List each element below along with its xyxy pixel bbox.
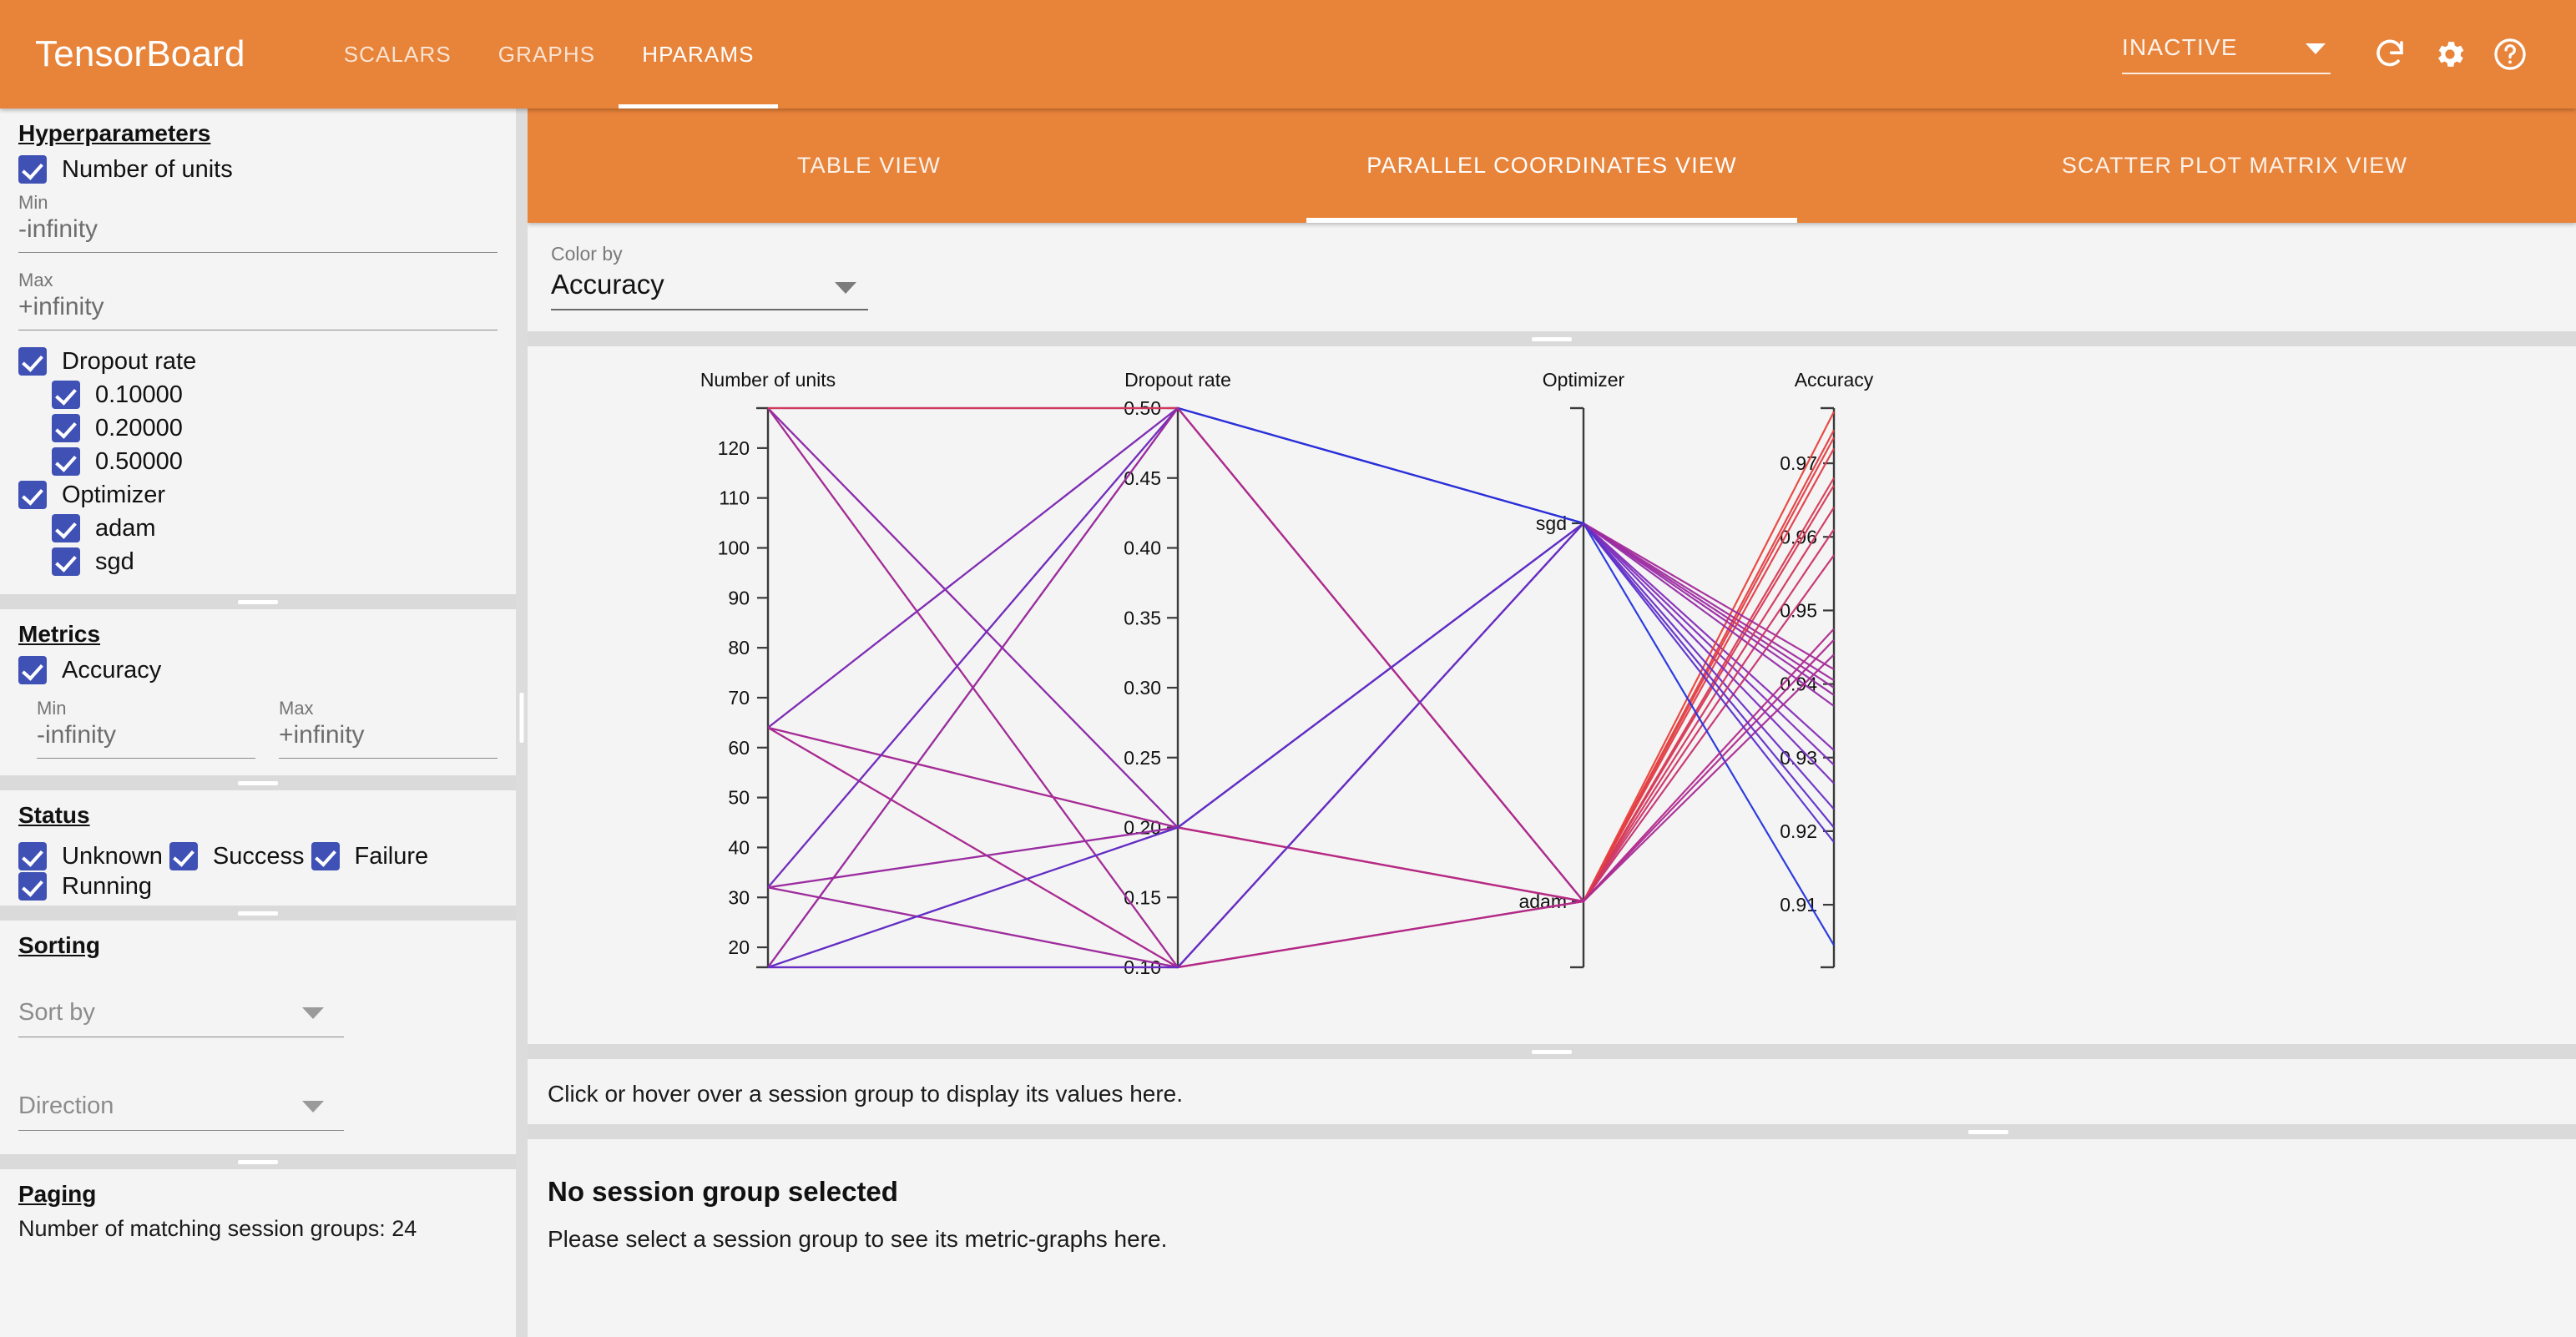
checkbox-status-unknown[interactable] [18, 842, 47, 870]
chevron-down-icon [835, 282, 856, 294]
status-title: Status [18, 802, 498, 829]
checkbox-status-failure[interactable] [311, 842, 340, 870]
run-selector-value: INACTIVE [2122, 34, 2238, 61]
session-group-panel: No session group selected Please select … [528, 1139, 2576, 1253]
checkbox-row-dropout-0-1[interactable]: 0.10000 [18, 381, 498, 409]
svg-text:0.93: 0.93 [1780, 747, 1817, 769]
accuracy-min-field[interactable]: Min -infinity [37, 698, 255, 759]
divider-colorby-chart[interactable] [528, 331, 2576, 346]
view-tab-bar: TABLE VIEW PARALLEL COORDINATES VIEW SCA… [528, 108, 2576, 223]
svg-text:90: 90 [728, 587, 750, 608]
number-of-units-max-field[interactable]: Max +infinity [18, 270, 498, 330]
svg-text:Optimizer: Optimizer [1543, 369, 1625, 391]
checkbox-number-of-units[interactable] [18, 155, 47, 184]
svg-text:0.92: 0.92 [1780, 820, 1817, 842]
svg-text:110: 110 [719, 487, 750, 509]
svg-text:0.40: 0.40 [1124, 537, 1161, 559]
paging-panel: Paging Number of matching session groups… [0, 1181, 516, 1242]
topnav-item-graphs[interactable]: GRAPHS [475, 0, 619, 108]
sort-by-select[interactable]: Sort by [18, 991, 344, 1037]
checkbox-row-status-success[interactable]: Success [169, 842, 305, 870]
checkbox-dropout-0-2[interactable] [52, 414, 80, 442]
run-selector-dropdown[interactable]: INACTIVE [2122, 34, 2331, 74]
svg-text:120: 120 [718, 437, 750, 459]
label-status-running: Running [62, 873, 152, 901]
svg-text:0.25: 0.25 [1124, 747, 1161, 769]
direction-placeholder: Direction [18, 1092, 114, 1119]
label-status-success: Success [213, 843, 305, 870]
number-of-units-min-input[interactable]: -infinity [18, 215, 498, 253]
number-of-units-max-input[interactable]: +infinity [18, 293, 498, 330]
svg-text:Accuracy: Accuracy [1795, 369, 1874, 391]
svg-text:0.15: 0.15 [1124, 886, 1161, 908]
matching-session-groups-count: Number of matching session groups: 24 [18, 1216, 498, 1242]
main-content: TABLE VIEW PARALLEL COORDINATES VIEW SCA… [528, 108, 2576, 1337]
divider-chart-hover[interactable] [528, 1044, 2576, 1059]
checkbox-row-dropout-0-5[interactable]: 0.50000 [18, 447, 498, 476]
color-by-value: Accuracy [551, 269, 664, 300]
sorting-title: Sorting [18, 932, 498, 959]
label-number-of-units: Number of units [62, 156, 233, 184]
hyperparameters-title: Hyperparameters [18, 120, 498, 147]
checkbox-optimizer-sgd[interactable] [52, 547, 80, 576]
svg-text:0.91: 0.91 [1780, 894, 1817, 916]
checkbox-row-dropout-0-2[interactable]: 0.20000 [18, 414, 498, 442]
svg-text:sgd: sgd [1536, 512, 1567, 534]
checkbox-status-success[interactable] [169, 842, 198, 870]
sort-by-placeholder: Sort by [18, 999, 95, 1026]
checkbox-row-status-unknown[interactable]: Unknown [18, 842, 163, 870]
hyperparameters-panel: Hyperparameters Number of units Min -inf… [0, 120, 516, 594]
checkbox-row-dropout-rate[interactable]: Dropout rate [18, 347, 498, 376]
label-dropout-0-2: 0.20000 [95, 415, 183, 442]
svg-text:80: 80 [728, 637, 750, 658]
panel-divider-sorting-paging[interactable] [0, 1154, 516, 1169]
chevron-down-icon [302, 1007, 324, 1019]
help-circle-icon[interactable] [2484, 28, 2536, 80]
checkbox-dropout-rate[interactable] [18, 347, 47, 376]
svg-text:70: 70 [728, 687, 750, 709]
svg-text:0.30: 0.30 [1124, 677, 1161, 699]
sorting-panel: Sorting Sort by Direction [0, 932, 516, 1154]
color-by-control[interactable]: Color by Accuracy [551, 243, 868, 310]
number-of-units-max-label: Max [18, 270, 498, 291]
direction-select[interactable]: Direction [18, 1084, 344, 1131]
app-title: TensorBoard [35, 33, 245, 75]
accuracy-max-label: Max [279, 698, 498, 719]
checkbox-status-running[interactable] [18, 872, 47, 901]
checkbox-dropout-0-5[interactable] [52, 447, 80, 476]
tab-scatter-plot-matrix-view[interactable]: SCATTER PLOT MATRIX VIEW [1893, 108, 2576, 223]
paging-title: Paging [18, 1181, 498, 1208]
label-optimizer-adam: adam [95, 515, 156, 542]
label-optimizer-sgd: sgd [95, 548, 134, 576]
label-dropout-rate: Dropout rate [62, 348, 196, 376]
checkbox-row-optimizer-sgd[interactable]: sgd [18, 547, 498, 576]
parallel-coordinates-chart[interactable]: 20304050607080901001101200.100.150.200.2… [528, 346, 2576, 1044]
metrics-title: Metrics [18, 621, 498, 648]
svg-text:Dropout rate: Dropout rate [1124, 369, 1231, 391]
tab-table-view[interactable]: TABLE VIEW [528, 108, 1210, 223]
checkbox-row-status-failure[interactable]: Failure [311, 842, 429, 870]
label-optimizer: Optimizer [62, 482, 165, 509]
svg-text:Number of units: Number of units [700, 369, 836, 391]
tab-parallel-coordinates-view[interactable]: PARALLEL COORDINATES VIEW [1210, 108, 1893, 223]
label-status-failure: Failure [355, 843, 429, 870]
svg-text:0.35: 0.35 [1124, 607, 1161, 628]
checkbox-row-status-running[interactable]: Running [18, 872, 498, 901]
session-group-title: No session group selected [548, 1176, 2556, 1208]
status-panel: Status Unknown Success Failure Running [0, 802, 516, 906]
topnav-item-scalars[interactable]: SCALARS [321, 0, 475, 108]
svg-text:0.45: 0.45 [1124, 467, 1161, 489]
number-of-units-min-label: Min [18, 192, 498, 214]
chevron-down-icon [2306, 43, 2326, 54]
accuracy-max-field[interactable]: Max +infinity [279, 698, 498, 759]
topnav-item-hparams[interactable]: HPARAMS [619, 0, 777, 108]
label-dropout-0-5: 0.50000 [95, 448, 183, 476]
checkbox-optimizer-adam[interactable] [52, 514, 80, 542]
checkbox-accuracy[interactable] [18, 656, 47, 684]
session-group-subtitle: Please select a session group to see its… [548, 1226, 2556, 1253]
hover-hint-text: Click or hover over a session group to d… [548, 1081, 2556, 1107]
top-app-bar: TensorBoard SCALARS GRAPHS HPARAMS INACT… [0, 0, 2576, 108]
svg-text:100: 100 [718, 537, 750, 559]
checkbox-optimizer[interactable] [18, 481, 47, 509]
sidebar: Hyperparameters Number of units Min -inf… [0, 108, 516, 1337]
panel-divider-hparams-metrics[interactable] [0, 594, 516, 609]
refresh-icon[interactable] [2364, 28, 2416, 80]
color-by-label: Color by [551, 243, 868, 265]
label-accuracy: Accuracy [62, 657, 161, 684]
metrics-panel: Metrics Accuracy Min -infinity Max +infi… [0, 621, 516, 775]
svg-text:50: 50 [728, 787, 750, 809]
svg-text:20: 20 [728, 936, 750, 958]
svg-text:30: 30 [728, 886, 750, 908]
color-by-select[interactable]: Accuracy [551, 269, 868, 310]
accuracy-min-input[interactable]: -infinity [37, 721, 255, 759]
accuracy-max-input[interactable]: +infinity [279, 721, 498, 759]
top-navigation: SCALARS GRAPHS HPARAMS [321, 0, 778, 108]
panel-divider-metrics-status[interactable] [0, 775, 516, 790]
label-dropout-0-1: 0.10000 [95, 381, 183, 409]
sidebar-resize-splitter[interactable] [516, 108, 528, 1337]
top-bar-actions: INACTIVE [2122, 28, 2536, 80]
accuracy-min-label: Min [37, 698, 255, 719]
label-status-unknown: Unknown [62, 843, 163, 870]
checkbox-dropout-0-1[interactable] [52, 381, 80, 409]
parallel-coordinates-svg[interactable]: 20304050607080901001101200.100.150.200.2… [528, 346, 2576, 1044]
svg-text:40: 40 [728, 836, 750, 858]
checkbox-row-optimizer-adam[interactable]: adam [18, 514, 498, 542]
settings-gear-icon[interactable] [2424, 28, 2476, 80]
checkbox-row-optimizer[interactable]: Optimizer [18, 481, 498, 509]
divider-hover-sessiongroup[interactable] [528, 1124, 2576, 1139]
hover-info-panel: Click or hover over a session group to d… [528, 1059, 2576, 1124]
panel-divider-status-sorting[interactable] [0, 906, 516, 921]
checkbox-row-accuracy[interactable]: Accuracy [18, 656, 498, 684]
color-by-toolbar: Color by Accuracy [528, 223, 2576, 331]
chevron-down-icon [302, 1101, 324, 1112]
number-of-units-min-field[interactable]: Min -infinity [18, 192, 498, 253]
checkbox-row-number-of-units[interactable]: Number of units [18, 155, 498, 184]
svg-text:60: 60 [728, 737, 750, 759]
